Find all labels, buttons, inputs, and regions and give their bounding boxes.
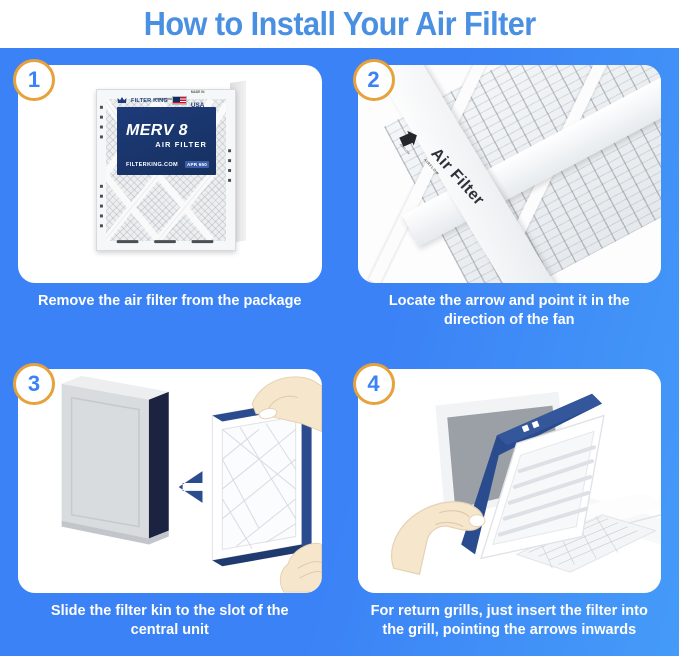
step-2-card: AIRFLOW Air Filter AIRFLOW 2 bbox=[358, 65, 662, 283]
step-4-illustration bbox=[358, 369, 662, 593]
air-filter-panel bbox=[212, 400, 311, 567]
step-4-badge: 4 bbox=[353, 363, 395, 405]
step-3-illustration bbox=[18, 369, 322, 593]
svg-text:AIRFLOW: AIRFLOW bbox=[398, 143, 410, 156]
step-1-caption: Remove the air filter from the package bbox=[18, 292, 322, 311]
step-3-number: 3 bbox=[28, 373, 40, 395]
step-1-badge: 1 bbox=[13, 59, 55, 101]
filter-origin: MADE IN USA bbox=[191, 90, 205, 112]
step-4-card: 4 bbox=[358, 369, 662, 593]
infographic-page: How to Install Your Air Filter bbox=[0, 0, 679, 656]
step-1-illustration: FILTER KING MADE IN USA MERV 8 AIR FILTE… bbox=[18, 65, 322, 283]
step-2-badge: 2 bbox=[353, 59, 395, 101]
step-3-caption: Slide the filter kin to the slot of the … bbox=[18, 602, 322, 640]
filter-brand-name: FILTER KING bbox=[131, 98, 168, 104]
label-apr-rating: APR 650 bbox=[185, 161, 209, 168]
step-3-card: 3 bbox=[18, 369, 322, 593]
usa-flag-icon bbox=[172, 96, 187, 105]
step-3-badge: 3 bbox=[13, 363, 55, 405]
crown-icon bbox=[117, 96, 127, 105]
filter-corner-photo: AIRFLOW Air Filter AIRFLOW bbox=[358, 65, 662, 283]
filter-merv-label: MERV 8 AIR FILTER FILTERKING.COM APR 650 bbox=[117, 107, 216, 175]
step-1-number: 1 bbox=[28, 69, 40, 91]
step-1: FILTER KING MADE IN USA MERV 8 AIR FILTE… bbox=[0, 48, 340, 352]
slide-filter-vector bbox=[18, 369, 322, 593]
merv8-filter-photo: FILTER KING MADE IN USA MERV 8 AIR FILTE… bbox=[96, 83, 246, 253]
step-2-number: 2 bbox=[367, 69, 379, 91]
step-4-caption: For return grills, just insert the filte… bbox=[358, 602, 662, 640]
step-4-number: 4 bbox=[367, 373, 379, 395]
filter-front-face: FILTER KING MADE IN USA MERV 8 AIR FILTE… bbox=[96, 89, 236, 251]
step-4: 4 For return grills, just insert the fil… bbox=[340, 352, 679, 656]
return-grille-vector bbox=[358, 369, 662, 593]
label-website: FILTERKING.COM bbox=[126, 162, 178, 168]
steps-grid: FILTER KING MADE IN USA MERV 8 AIR FILTE… bbox=[0, 48, 679, 656]
merv-rating: MERV 8 bbox=[126, 122, 188, 140]
label-subtitle: AIR FILTER bbox=[155, 140, 207, 149]
central-unit-slot bbox=[62, 376, 169, 545]
step-2: AIRFLOW Air Filter AIRFLOW 2 Locate the … bbox=[340, 48, 679, 352]
filter-brand-bar: FILTER KING MADE IN USA bbox=[117, 94, 216, 107]
step-2-illustration: AIRFLOW Air Filter AIRFLOW bbox=[358, 65, 662, 283]
page-title: How to Install Your Air Filter bbox=[144, 4, 536, 44]
step-1-card: FILTER KING MADE IN USA MERV 8 AIR FILTE… bbox=[18, 65, 322, 283]
step-2-caption: Locate the arrow and point it in the dir… bbox=[358, 292, 662, 330]
step-3: 3 Slide the filter kin to the slot of th… bbox=[0, 352, 340, 656]
header-bar: How to Install Your Air Filter bbox=[0, 0, 679, 48]
